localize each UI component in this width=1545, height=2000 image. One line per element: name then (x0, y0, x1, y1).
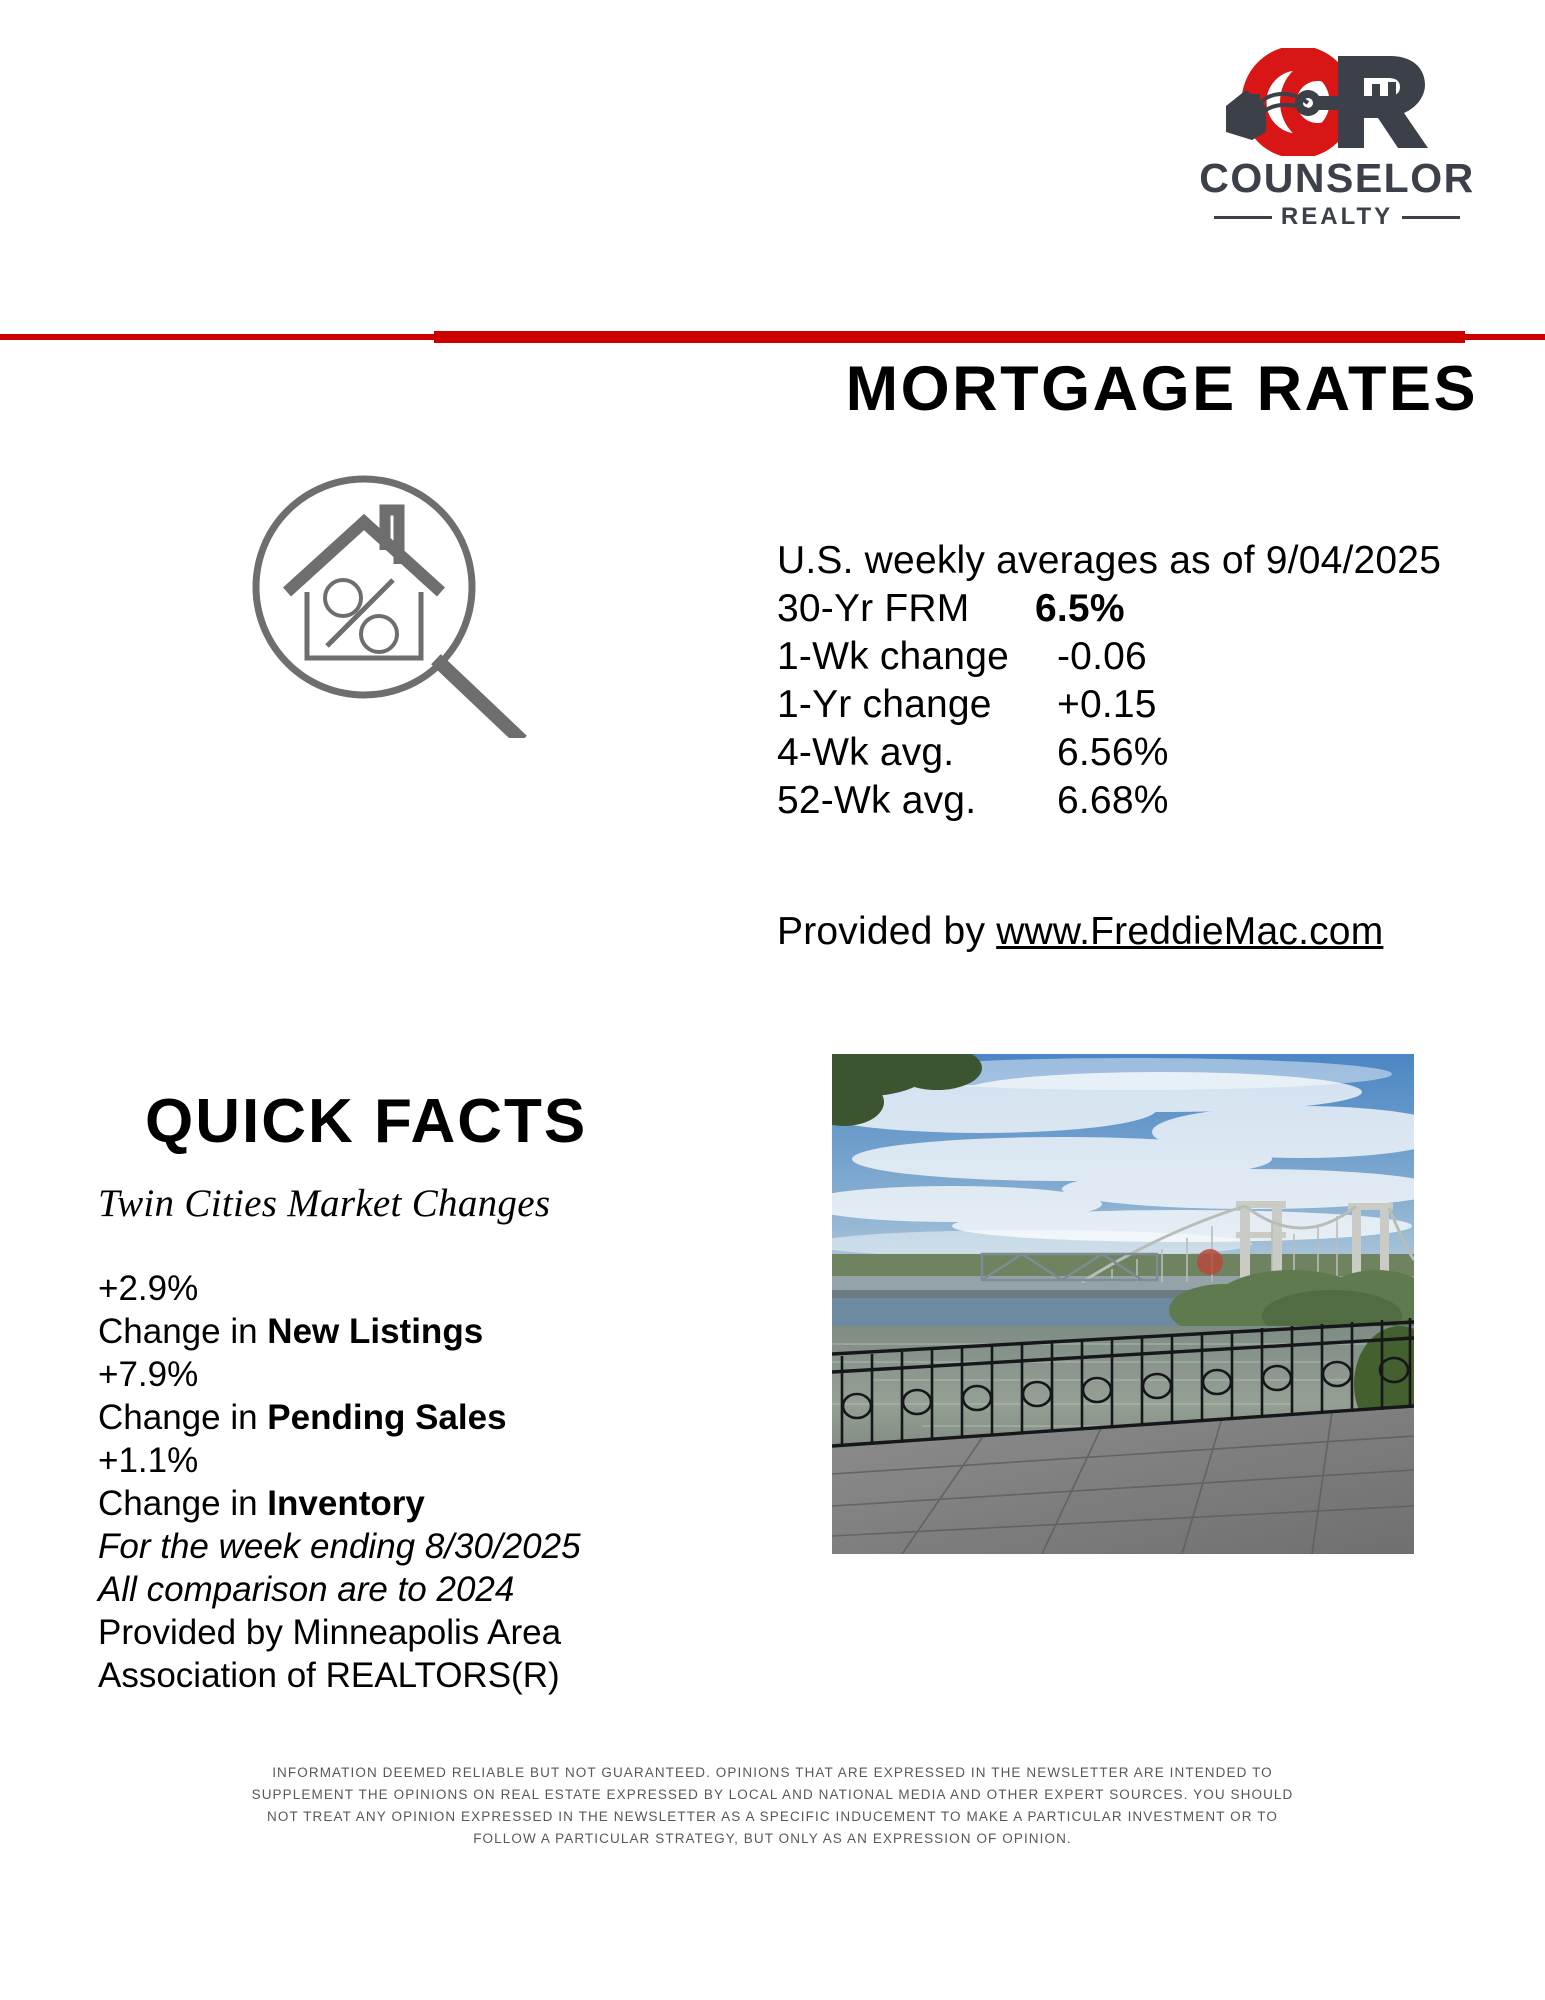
stat-percent: +7.9% (98, 1353, 581, 1396)
rate-value: -0.06 (1035, 633, 1217, 681)
quick-facts-source-line1: Provided by Minneapolis Area (98, 1611, 581, 1654)
quick-facts-source-line2: Association of REALTORS(R) (98, 1654, 581, 1697)
stat-prefix: Change in (98, 1312, 267, 1351)
stat-metric: Inventory (267, 1484, 425, 1523)
rate-row: 4-Wk avg. 6.56% (777, 729, 1217, 777)
mortgage-rates-title: MORTGAGE RATES (0, 353, 1478, 425)
disclaimer-line-4: FOLLOW A PARTICULAR STRATEGY, BUT ONLY A… (0, 1828, 1545, 1850)
rate-label: 1-Wk change (777, 633, 1035, 681)
freddiemac-link[interactable]: www.FreddieMac.com (996, 910, 1383, 953)
quick-facts-title: QUICK FACTS (145, 1086, 587, 1157)
divider-thick-middle (434, 331, 1465, 343)
rate-value: 6.5% (1035, 585, 1217, 633)
divider-thin-left (0, 334, 434, 340)
rate-label: 4-Wk avg. (777, 729, 1035, 777)
cr-keyhouse-logo-icon (1187, 48, 1487, 156)
rate-value: 6.68% (1035, 777, 1217, 825)
counselor-realty-logo[interactable]: COUNSELOR REALTY (1187, 48, 1487, 229)
divider-thin-right (1465, 334, 1545, 340)
stat-label: Change in Pending Sales (98, 1396, 581, 1439)
quick-facts-subtitle: Twin Cities Market Changes (98, 1181, 550, 1226)
rate-value: +0.15 (1035, 681, 1217, 729)
rate-row: 1-Wk change -0.06 (777, 633, 1217, 681)
rate-row: 52-Wk avg. 6.68% (777, 777, 1217, 825)
disclaimer-line-3: NOT TREAT ANY OPINION EXPRESSED IN THE N… (0, 1806, 1545, 1828)
stat-prefix: Change in (98, 1398, 267, 1437)
stat-prefix: Change in (98, 1484, 267, 1523)
logo-subtitle-row: REALTY (1187, 205, 1487, 229)
logo-rule-right (1402, 216, 1460, 219)
rate-row: 30-Yr FRM 6.5% (777, 585, 1217, 633)
provided-by-label: Provided by (777, 910, 996, 953)
rate-row: 1-Yr change +0.15 (777, 681, 1217, 729)
logo-rule-left (1214, 216, 1272, 219)
red-divider (0, 331, 1545, 343)
comparison-note: All comparison are to 2024 (98, 1568, 581, 1611)
stat-percent: +2.9% (98, 1267, 581, 1310)
page-header: COUNSELOR REALTY (0, 0, 1545, 300)
rate-label: 30-Yr FRM (777, 585, 1035, 633)
stat-percent: +1.1% (98, 1439, 581, 1482)
freddiemac-attribution: Provided by www.FreddieMac.com (777, 910, 1383, 954)
rate-label: 52-Wk avg. (777, 777, 1035, 825)
minneapolis-bridge-photo (832, 1054, 1414, 1554)
logo-subtitle: REALTY (1281, 205, 1393, 229)
stat-label: Change in Inventory (98, 1482, 581, 1525)
rates-heading: U.S. weekly averages as of 9/04/2025 (777, 537, 1441, 585)
house-percent-magnifier-icon (245, 468, 535, 743)
stat-metric: Pending Sales (267, 1398, 506, 1437)
mortgage-rates-table: U.S. weekly averages as of 9/04/2025 30-… (777, 537, 1441, 825)
week-ending-note: For the week ending 8/30/2025 (98, 1525, 581, 1568)
stat-metric: New Listings (267, 1312, 483, 1351)
rate-value: 6.56% (1035, 729, 1217, 777)
quick-facts-stats: +2.9% Change in New Listings +7.9% Chang… (98, 1267, 581, 1697)
stat-label: Change in New Listings (98, 1310, 581, 1353)
disclaimer-line-1: INFORMATION DEEMED RELIABLE BUT NOT GUAR… (0, 1762, 1545, 1784)
disclaimer-line-2: SUPPLEMENT THE OPINIONS ON REAL ESTATE E… (0, 1784, 1545, 1806)
logo-wordmark: COUNSELOR (1187, 158, 1487, 199)
rate-label: 1-Yr change (777, 681, 1035, 729)
disclaimer: INFORMATION DEEMED RELIABLE BUT NOT GUAR… (0, 1762, 1545, 1850)
